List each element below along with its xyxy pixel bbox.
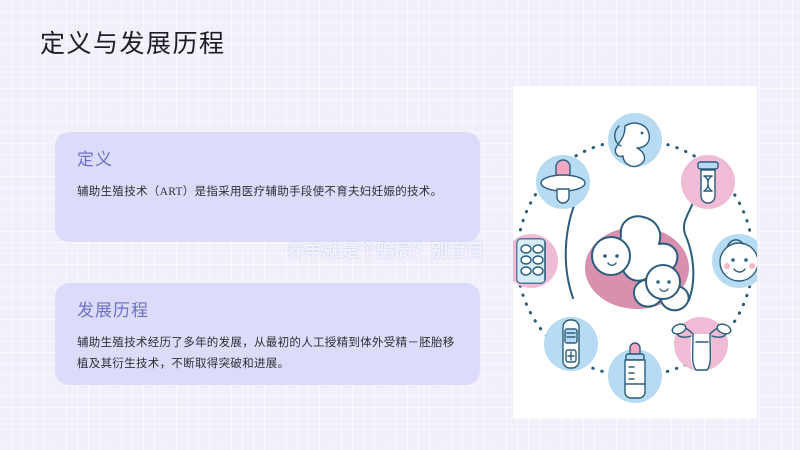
pregnant-belly-group [566, 198, 695, 310]
card-history-title: 发展历程 [77, 299, 458, 323]
baby-face-icon [712, 234, 757, 288]
watermark-text: 养羊就是个骗局？别盲目 [287, 239, 517, 263]
slide-canvas: 定义与发展历程 定义 辅助生殖技术（ART）是指采用医疗辅助手段使不育夫妇妊娠的… [0, 0, 800, 450]
card-definition-body: 辅助生殖技术（ART）是指采用医疗辅助手段使不育夫妇妊娠的技术。 [77, 182, 458, 203]
uterus-icon [671, 317, 732, 371]
page-title: 定义与发展历程 [40, 28, 226, 62]
art-cycle-illustration: .ln{fill:none;stroke:#2b5d7d;stroke-widt… [513, 86, 757, 418]
card-history: 发展历程 辅助生殖技术经历了多年的发展，从最初的人工授精到体外受精－胚胎移植及其… [55, 283, 480, 385]
card-definition: 定义 辅助生殖技术（ART）是指采用医疗辅助手段使不育夫妇妊娠的技术。 [55, 132, 480, 242]
pacifier-icon [536, 155, 590, 209]
dna-test-tube-icon [681, 155, 735, 209]
pregnancy-test-icon [544, 317, 598, 371]
card-definition-title: 定义 [77, 148, 458, 172]
card-history-body: 辅助生殖技术经历了多年的发展，从最初的人工授精到体外受精－胚胎移植及其衍生技术，… [77, 333, 458, 375]
fetus-icon [608, 113, 662, 167]
baby-bottle-icon [608, 343, 662, 403]
illustration-panel: .ln{fill:none;stroke:#2b5d7d;stroke-widt… [513, 86, 757, 418]
pill-blister-icon [513, 234, 558, 288]
